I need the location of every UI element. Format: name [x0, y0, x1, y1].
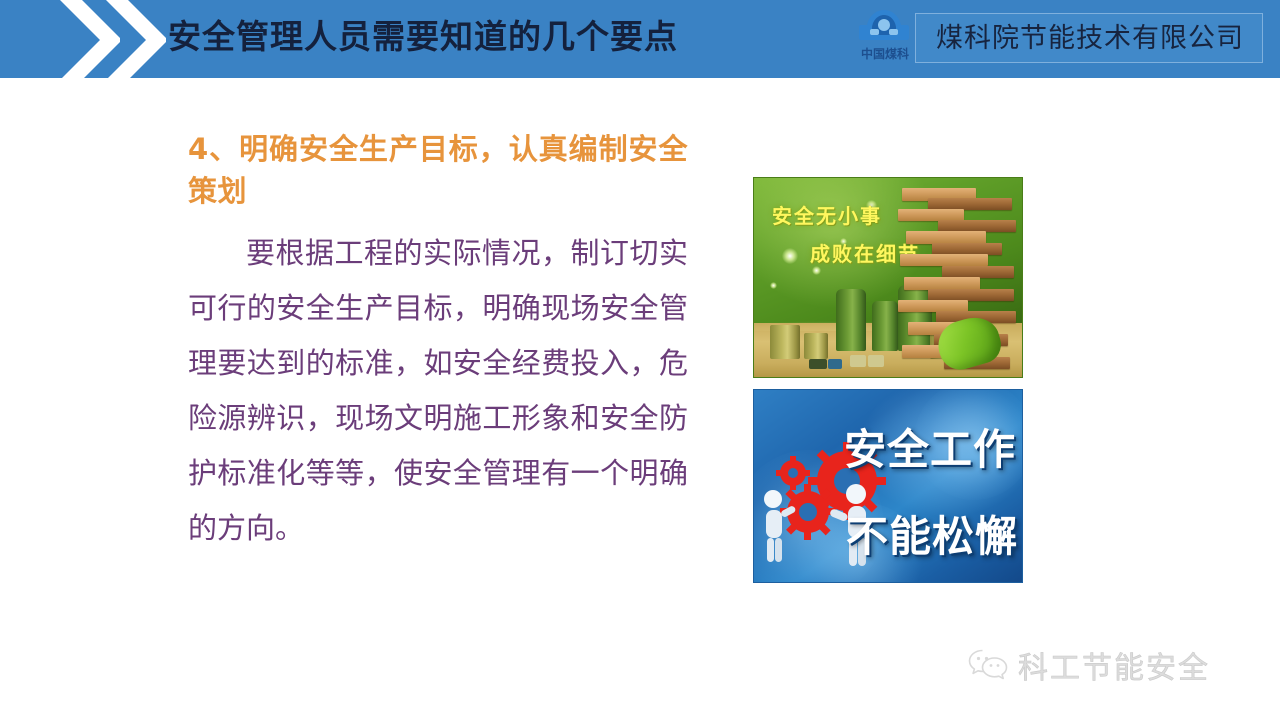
- barrel: [770, 325, 800, 359]
- wechat-watermark: 科工节能安全: [968, 645, 1210, 685]
- header-bar: 安全管理人员需要知道的几个要点 中国煤科 煤科院节能技术有限公司: [0, 0, 1280, 78]
- company-name-label: 煤科院节能技术有限公司: [916, 14, 1264, 64]
- watermark-label: 科工节能安全: [1018, 643, 1210, 687]
- poster-blue-line1: 安全工作: [844, 416, 1016, 477]
- company-logo: 中国煤科: [848, 8, 922, 70]
- person-figure: [758, 488, 798, 564]
- company-logo-caption: 中国煤科: [848, 47, 922, 62]
- cooling-tower: [836, 289, 866, 351]
- chevron-right-icon-2: [94, 0, 166, 78]
- safety-vigilance-poster: 安全工作 不能松懈: [753, 389, 1023, 583]
- cooling-tower: [872, 301, 898, 351]
- body-paragraph: 要根据工程的实际情况，制订切实可行的安全生产目标，明确现场安全管理要达到的标准，…: [188, 226, 688, 556]
- coal-science-logo-icon: [856, 8, 912, 48]
- barrel: [804, 333, 828, 359]
- page-title: 安全管理人员需要知道的几个要点: [168, 14, 678, 60]
- double-chevron-right-icon: [48, 0, 188, 78]
- barrel: [850, 355, 866, 367]
- barrel: [809, 359, 827, 369]
- barrel: [868, 355, 884, 367]
- safety-details-poster: 安全无小事 成败在细节: [753, 177, 1023, 378]
- sparkle-icon: [782, 248, 798, 264]
- sparkle-icon: [770, 282, 777, 289]
- wechat-icon: [968, 648, 1008, 682]
- poster-green-line1: 安全无小事: [772, 200, 882, 229]
- gear-icon: [776, 456, 810, 490]
- poster-blue-line2: 不能松懈: [846, 503, 1018, 564]
- barrel: [828, 359, 842, 369]
- section-heading: 4、明确安全生产目标，认真编制安全策划: [188, 128, 688, 212]
- content-text-column: 4、明确安全生产目标，认真编制安全策划 要根据工程的实际情况，制订切实可行的安全…: [188, 128, 688, 556]
- sparkle-icon: [812, 266, 821, 275]
- company-name-box: 煤科院节能技术有限公司: [915, 13, 1263, 63]
- slide-root: 安全管理人员需要知道的几个要点 中国煤科 煤科院节能技术有限公司 4、明确安全生…: [0, 0, 1280, 720]
